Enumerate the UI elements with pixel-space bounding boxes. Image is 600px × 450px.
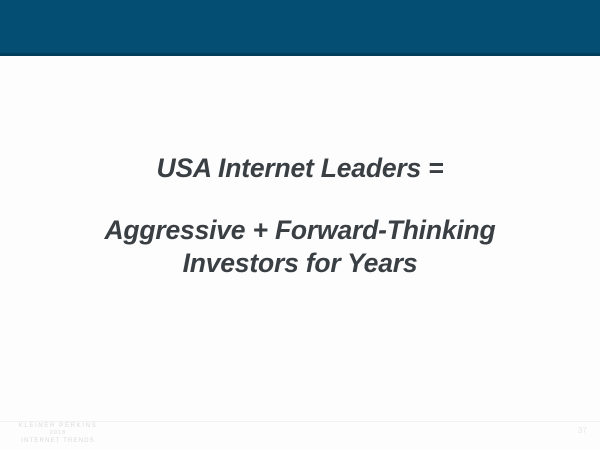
logo-line-company: KLEINER PERKINS <box>8 422 108 430</box>
headline-block: USA Internet Leaders = Aggressive + Forw… <box>0 152 600 280</box>
presentation-slide: USA Internet Leaders = Aggressive + Forw… <box>0 0 600 450</box>
headline-line-3: Investors for Years <box>0 247 600 280</box>
slide-content: USA Internet Leaders = Aggressive + Forw… <box>0 56 600 421</box>
slide-footer: KLEINER PERKINS 2018 INTERNET TRENDS 37 <box>0 422 600 450</box>
headline-line-2: Aggressive + Forward-Thinking <box>0 214 600 247</box>
headline-paragraph-second: Aggressive + Forward-Thinking Investors … <box>0 214 600 280</box>
logo-line-report: INTERNET TRENDS <box>8 437 108 445</box>
headline-spacer <box>0 185 600 214</box>
top-banner <box>0 0 600 55</box>
headline-line-1: USA Internet Leaders = <box>0 152 600 185</box>
page-number: 37 <box>578 426 587 436</box>
logo-line-year: 2018 <box>8 430 108 437</box>
kleiner-perkins-logo: KLEINER PERKINS 2018 INTERNET TRENDS <box>8 422 108 445</box>
headline-paragraph-first: USA Internet Leaders = <box>0 152 600 185</box>
